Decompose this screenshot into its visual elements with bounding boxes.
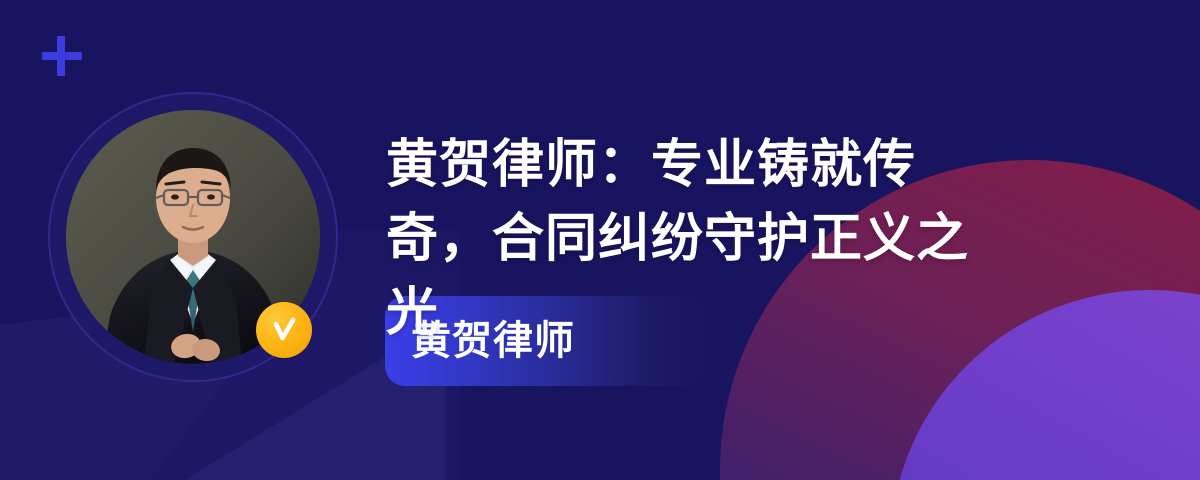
- plus-icon: [42, 36, 82, 76]
- avatar: [48, 92, 338, 382]
- verified-check-badge-icon: [256, 302, 312, 358]
- page-title: 黄贺律师：专业铸就传 奇，合同纠纷守护正义之 光: [386, 128, 1076, 350]
- lawyer-promo-banner: 黄贺律师 黄贺律师：专业铸就传 奇，合同纠纷守护正义之 光: [0, 0, 1200, 480]
